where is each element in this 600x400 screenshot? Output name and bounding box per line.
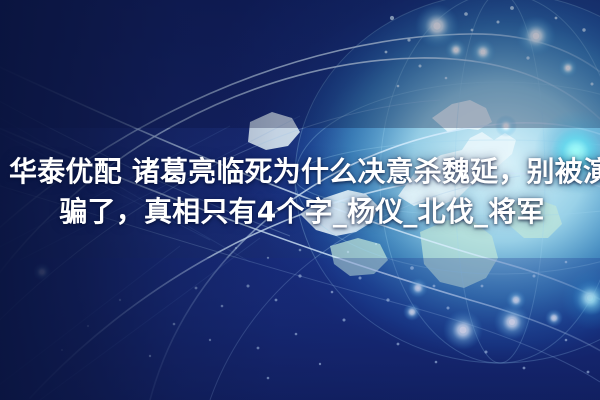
headline-line-2: 骗了，真相只有4个字_杨仪_北伐_将军 xyxy=(0,192,600,232)
headline-line-1: 华泰优配 诸葛亮临死为什么决意杀魏延，别被演义 xyxy=(0,152,600,192)
banner-canvas: 华泰优配 诸葛亮临死为什么决意杀魏延，别被演义 骗了，真相只有4个字_杨仪_北伐… xyxy=(0,0,600,400)
tonal-band-top xyxy=(0,0,600,128)
tonal-band-bottom xyxy=(0,258,600,400)
headline: 华泰优配 诸葛亮临死为什么决意杀魏延，别被演义 骗了，真相只有4个字_杨仪_北伐… xyxy=(0,152,600,232)
